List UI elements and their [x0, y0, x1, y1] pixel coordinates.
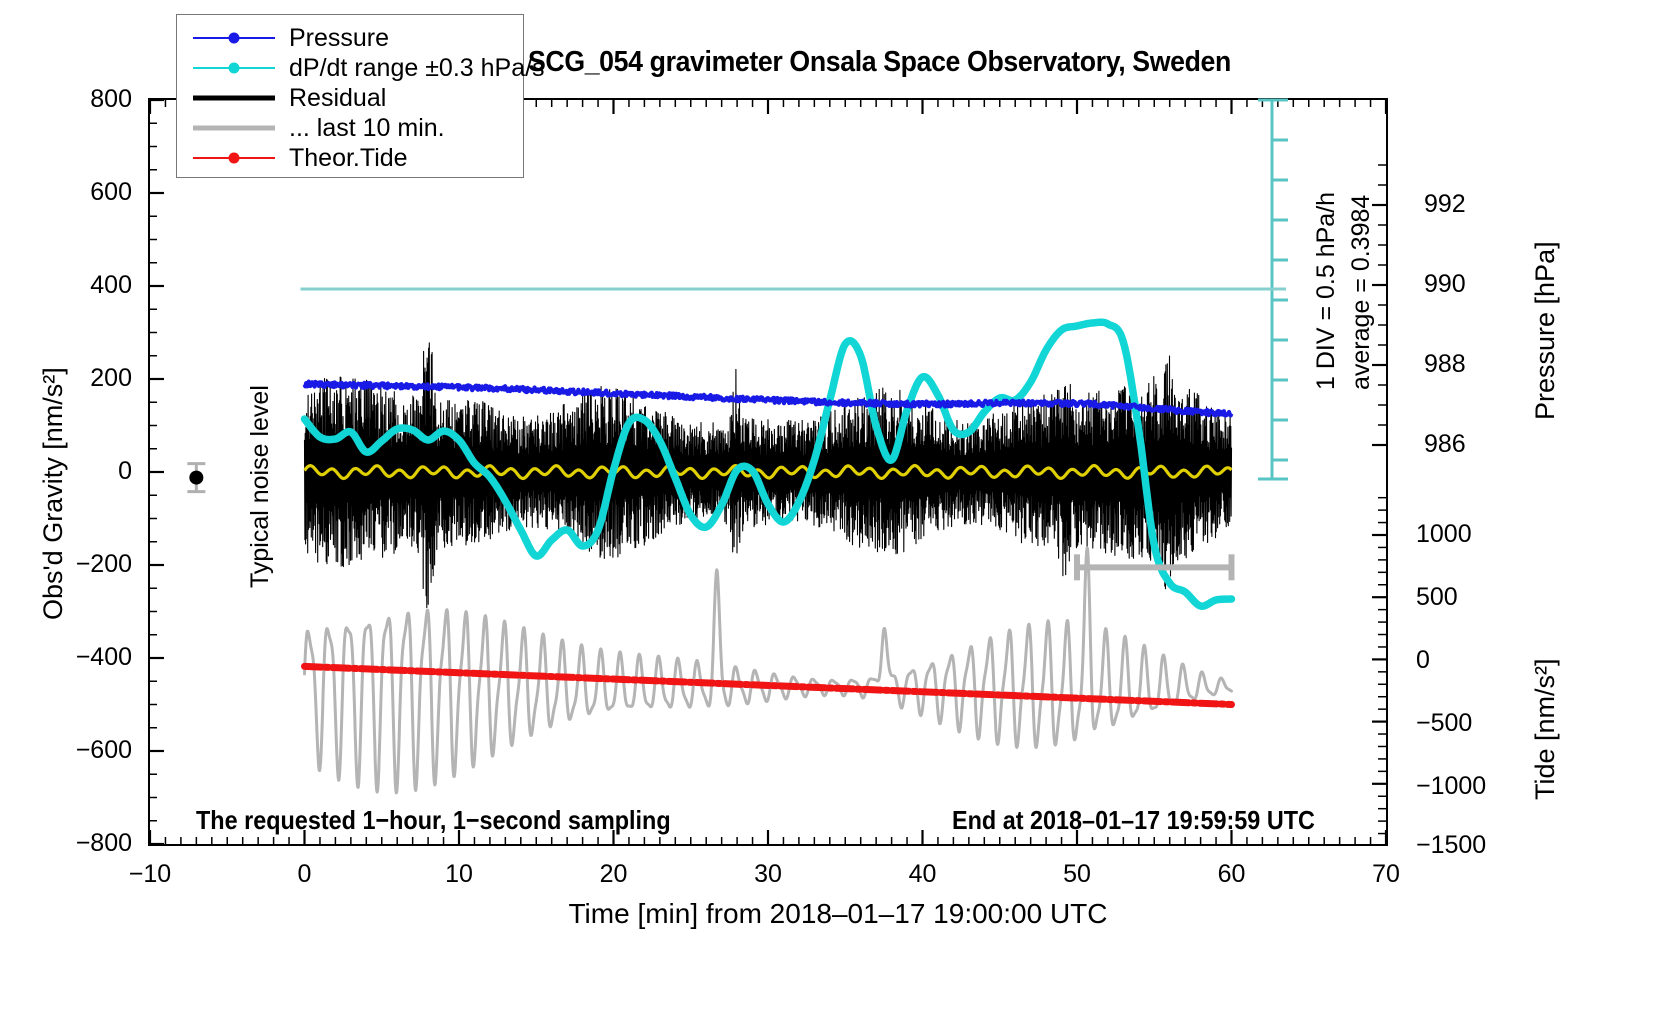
legend-swatch-icon [189, 58, 279, 78]
legend-swatch-icon [189, 148, 279, 168]
legend-item-label: ... last 10 min. [279, 114, 445, 143]
legend-swatch-icon [189, 28, 279, 48]
legend: PressuredP/dt range ±0.3 hPa/sResidual..… [176, 14, 524, 178]
noise-marker-dot [189, 471, 203, 485]
note-end-time: End at 2018–01–17 19:59:59 UTC [952, 805, 1315, 836]
legend-item-label: Theor.Tide [279, 144, 408, 173]
legend-item-label: dP/dt range ±0.3 hPa/s [279, 54, 545, 83]
legend-swatch-icon [189, 118, 279, 138]
legend-item-label: Pressure [279, 24, 389, 53]
note-sampling: The requested 1−hour, 1−second sampling [196, 805, 671, 836]
legend-item[interactable]: Theor.Tide [177, 143, 523, 173]
legend-item[interactable]: Residual [177, 83, 523, 113]
legend-swatch-icon [189, 88, 279, 108]
legend-item[interactable]: Pressure [177, 23, 523, 53]
series-pressure-core [305, 382, 1232, 416]
legend-item-label: Residual [279, 84, 386, 113]
legend-item[interactable]: ... last 10 min. [177, 113, 523, 143]
legend-item[interactable]: dP/dt range ±0.3 hPa/s [177, 53, 523, 83]
